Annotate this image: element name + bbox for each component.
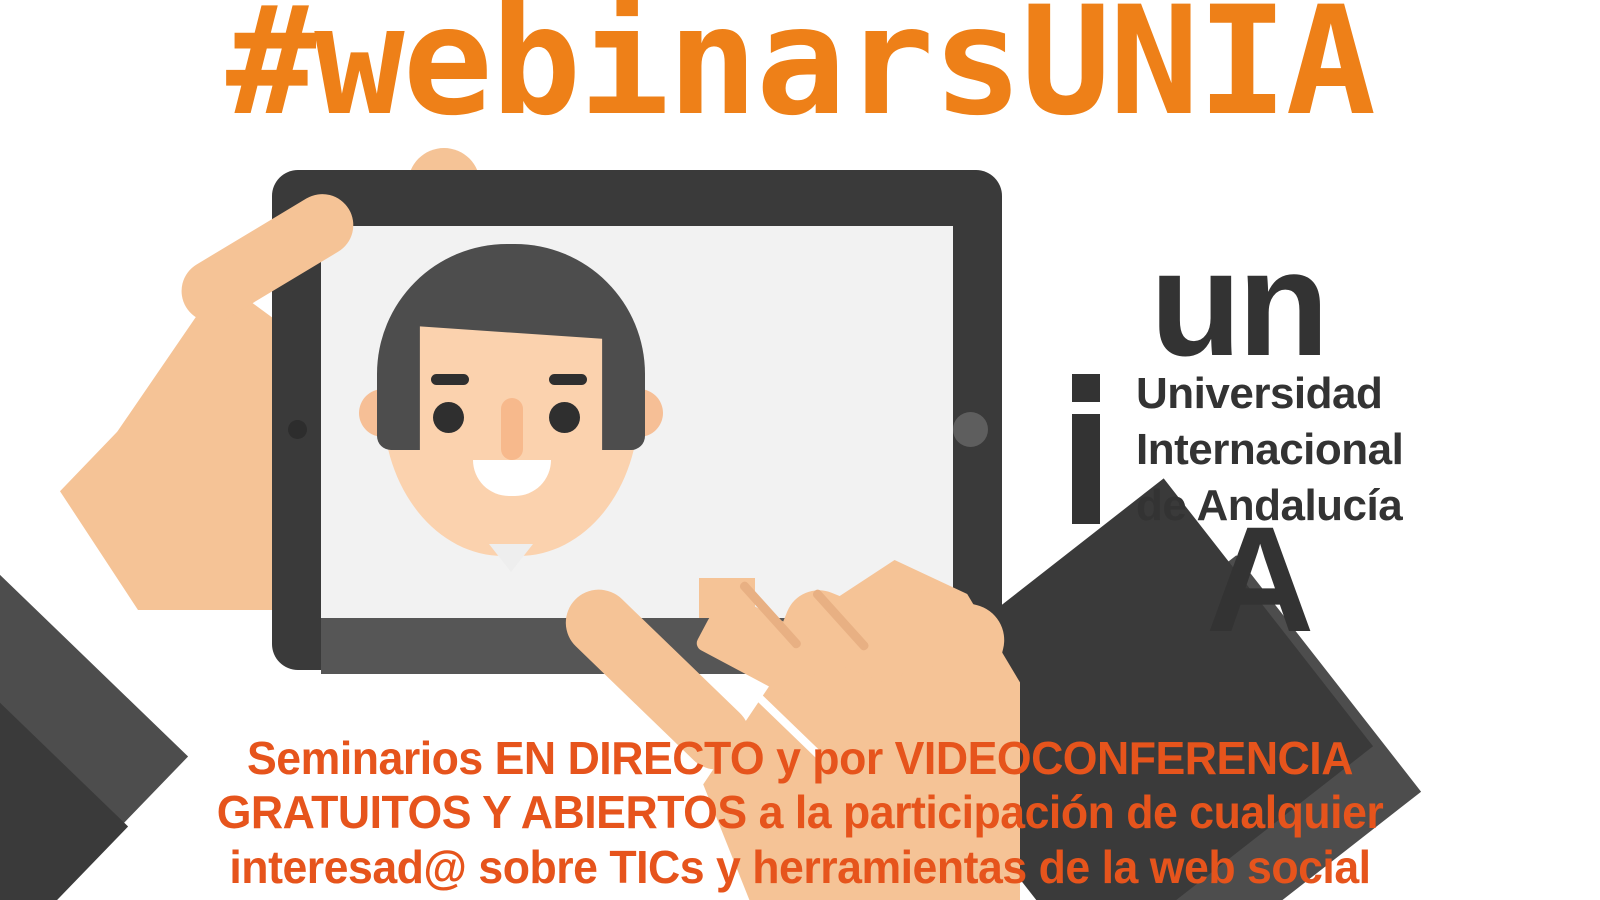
caption-line-2: GRATUITOS Y ABIERTOS a la participación … (24, 785, 1576, 839)
logo-a-text: A (1206, 504, 1312, 654)
caption-line-3: interesad@ sobre TICs y herramientas de … (24, 840, 1576, 894)
front-camera-icon (288, 420, 307, 439)
avatar-collar (489, 544, 533, 572)
caption-block: Seminarios EN DIRECTO y por VIDEOCONFERE… (0, 731, 1600, 894)
logo-i-dot (1072, 374, 1100, 402)
webinars-unia-poster: #webinarsUNIA (0, 0, 1600, 900)
logo-un-text: un (1150, 228, 1325, 378)
avatar-eye-left (433, 402, 464, 433)
page-title: #webinarsUNIA (0, 0, 1600, 142)
unia-logo: un Universidad Internacional de Andalucí… (1058, 256, 1478, 646)
caption-line-1: Seminarios EN DIRECTO y por VIDEOCONFERE… (24, 731, 1576, 785)
tablet-screen (321, 226, 953, 618)
avatar-nose (501, 398, 523, 460)
video-call-avatar (321, 226, 953, 618)
home-button[interactable] (953, 412, 988, 447)
logo-i-stem (1072, 414, 1100, 524)
avatar-eyebrow-right (549, 374, 587, 385)
logo-line-1: Universidad (1136, 366, 1403, 422)
logo-line-2: Internacional (1136, 422, 1403, 478)
avatar-eye-right (549, 402, 580, 433)
avatar-eyebrow-left (431, 374, 469, 385)
